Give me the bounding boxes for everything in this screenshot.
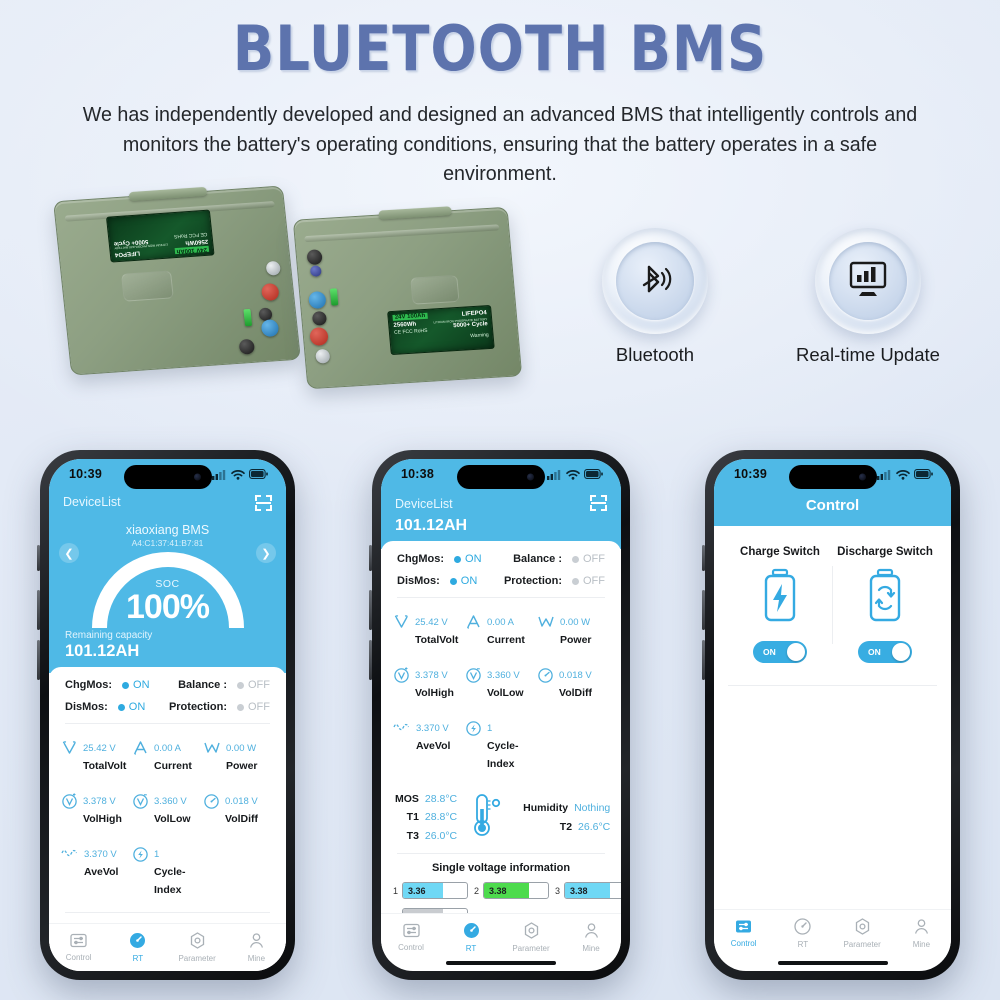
soc-value: 100% [49,590,286,626]
phone2-appbar-title[interactable]: DeviceList [395,497,453,511]
volt-diff-icon [537,667,554,688]
ave-vol-icon [61,846,79,865]
badge-realtime: Real-time Update [793,228,943,366]
label2-warning: Warning [435,332,489,342]
volt-low-icon [132,793,149,814]
volt-diff-icon [203,793,220,814]
signal-icon [547,469,562,480]
phone2-clock: 10:38 [401,467,434,481]
volt-icon [61,740,78,760]
metric-cycle-index: 1Cycle-Index [132,844,203,898]
product-photo-group: 24V 100Ah 2560Wh CE FCC RoHS LIFEPO4 LIT… [0,185,600,435]
phone3-notch [789,465,877,489]
charge-switch-toggle[interactable]: ON [753,641,807,663]
phone3-appbar: Control [714,489,951,526]
status-chgmos: ChgMos:ON [65,679,168,691]
person-icon [227,932,286,951]
battery-icon [914,469,933,479]
port2-silver [315,349,330,364]
port2-black [306,249,322,265]
port2-black2 [312,311,327,326]
port2-blue [308,291,326,309]
soc-gauge: SOC 100% [49,552,286,630]
phone1-device-hero: ❮ ❯ xiaoxiang BMS A4:C1:37:41:B7:81 SOC … [49,521,286,673]
tab-control[interactable]: Control [381,923,441,952]
phone2-home-indicator[interactable] [446,961,556,965]
wifi-icon [896,469,910,480]
battery-product-left: 24V 100Ah 2560Wh CE FCC RoHS LIFEPO4 LIT… [53,185,301,375]
discharge-switch-toggle[interactable]: ON [858,641,912,663]
status-dismos: DisMos:ON [397,575,501,587]
status-protection: Protection:OFF [501,575,605,587]
badge-realtime-label: Real-time Update [793,344,943,366]
signal-icon [212,469,227,480]
tab-parameter[interactable]: Parameter [168,932,227,963]
control-icon [381,923,441,940]
phone1-switch-status: ChgMos:ON Balance :OFF DisMos:ON Protect… [49,667,286,723]
metric-power: 0.00 WPower [203,738,274,774]
watt-icon [537,614,555,634]
metric-voldiff: 0.018 VVolDiff [203,791,274,827]
metric-avevol: 3.370 VAveVol [61,844,132,898]
phone3-appbar-title: Control [728,497,937,514]
discharge-switch-group: Discharge Switch ON [833,546,937,663]
phone3-clock: 10:39 [734,467,767,481]
metric-volhigh: 3.378 VVolHigh [61,791,132,827]
status-dismos: DisMos:ON [65,701,168,713]
battery-icon [584,469,603,479]
phone1-appbar: DeviceList [49,489,286,521]
thermometer-icon [457,792,515,843]
device-name: xiaoxiang BMS [49,523,286,537]
volt-high-icon [61,793,78,814]
person-icon [561,922,621,941]
charge-switch-label: Charge Switch [728,546,832,558]
phone2-volume-down-button[interactable] [369,640,372,680]
metric-volhigh: 3.378 VVolHigh [393,665,465,701]
tab-rt[interactable]: RT [441,922,501,953]
feature-badges: Bluetooth Real-time Update [585,228,985,393]
control-icon [714,919,773,936]
phone2-capacity: 101.12AH [395,517,467,535]
single-voltage-title: Single voltage information [381,854,621,882]
cell-battery-bar: 3.36 [402,882,468,899]
cycle-icon [465,720,482,741]
hex-gear-icon [501,922,561,941]
phone2-appbar: DeviceList 101.12AH [381,489,621,549]
status-balance: Balance :OFF [168,679,271,691]
bluetooth-icon [634,258,676,305]
port-blue [261,319,280,337]
metric-power: 0.00 WPower [537,612,609,648]
charge-switch-group: Charge Switch ON [728,546,832,663]
phone1-mute-button[interactable] [37,545,40,571]
cell-item: 13.36 [393,882,468,899]
gauge-icon [773,918,832,937]
metric-totalvolt: 25.42 VTotalVolt [393,612,465,648]
tab-parameter[interactable]: Parameter [833,918,892,949]
cycle-icon [132,846,149,867]
phone1-screen: 10:39 DeviceList ❮ ❯ xiaoxiang BMS A4:C1… [49,459,286,971]
person-icon [892,918,951,937]
wifi-icon [231,469,245,480]
control-icon [49,933,108,950]
remaining-capacity-label: Remaining capacity [65,630,270,641]
volt-low-icon [465,667,482,688]
gauge-icon [108,932,167,951]
tab-control[interactable]: Control [714,919,773,948]
phone1-volume-up-button[interactable] [37,590,40,630]
port-green [243,309,252,326]
port2-blue-dk [310,265,322,277]
phone2-tabbar: Control RT Parameter Mine [381,913,621,961]
watt-icon [203,740,221,760]
gauge-icon [441,922,501,941]
phone2-status-icons [547,469,603,480]
hex-gear-icon [833,918,892,937]
battery-bolt-icon [728,568,832,629]
page-subtitle: We has independently developed and desig… [68,100,932,189]
phone1-notch [124,465,212,489]
phone2-temps-left: MOS28.8°C T128.8°C T326.0°C [395,790,457,845]
metric-vollow: 3.360 VVolLow [465,665,537,701]
phone2-switch-status: ChgMos:ON Balance :OFF DisMos:ON Protect… [381,541,621,597]
scan-icon[interactable] [255,495,272,511]
tab-mine[interactable]: Mine [892,918,951,949]
phone2-volume-up-button[interactable] [369,590,372,630]
battery-product-right: 24V 100Ah 2560Wh CE FCC RoHS LIFEPO4 LIT… [293,207,522,389]
status-chgmos: ChgMos:ON [397,553,501,565]
phone-3: 10:39 Control Charge Switch O [705,450,960,980]
phone1-clock: 10:39 [69,467,102,481]
metric-current: 0.00 ACurrent [132,738,203,774]
hex-gear-icon [168,932,227,951]
ampere-icon [465,614,482,634]
remaining-capacity: Remaining capacity 101.12AH [49,630,286,661]
phone3-screen: 10:39 Control Charge Switch O [714,459,951,971]
tab-rt[interactable]: RT [773,918,832,949]
volt-high-icon [393,667,410,688]
metric-vollow: 3.360 VVolLow [132,791,203,827]
metric-totalvolt: 25.42 VTotalVolt [61,738,132,774]
battery-spec-label-2: 24V 100Ah 2560Wh CE FCC RoHS LIFEPO4 LIT… [387,305,495,355]
badge-bluetooth: Bluetooth [597,228,713,366]
tab-mine[interactable]: Mine [561,922,621,953]
battery-recycle-icon [833,568,937,629]
ampere-icon [132,740,149,760]
phone1-appbar-title[interactable]: DeviceList [63,495,121,509]
port2-red [309,327,329,346]
battery-icon [249,469,268,479]
phone1-tabbar: Control RT Parameter Mine [49,923,286,971]
discharge-switch-label: Discharge Switch [833,546,937,558]
phone1-volume-down-button[interactable] [37,640,40,680]
label-voltage: 24V 100Ah [174,246,209,254]
phone3-tabbar: Control RT Parameter Mine [714,909,951,957]
phone2-temps-right: HumidityNothing T226.6°C [515,799,610,836]
remaining-capacity-value: 101.12AH [65,642,270,661]
phone1-metrics: 25.42 VTotalVolt 0.00 ACurrent 0.00 WPow… [49,724,286,902]
phone3-status-icons [877,469,933,480]
metric-cycle-index: 1Cycle-Index [465,718,537,772]
cell-battery-bar: 3.38 [483,882,549,899]
port-silver [266,261,281,276]
tab-control[interactable]: Control [49,933,108,962]
phone2-notch [457,465,545,489]
cell-battery-bar: 3.38 [564,882,621,899]
metric-avevol: 3.370 VAveVol [393,718,465,772]
volt-icon [393,614,410,634]
phone-1: 10:39 DeviceList ❮ ❯ xiaoxiang BMS A4:C1… [40,450,295,980]
phone2-mute-button[interactable] [369,545,372,571]
phone3-mute-button[interactable] [702,545,705,571]
metric-current: 0.00 ACurrent [465,612,537,648]
phone2-card: ChgMos:ON Balance :OFF DisMos:ON Protect… [381,541,621,935]
device-mac: A4:C1:37:41:B7:81 [49,538,286,548]
ave-vol-icon [393,720,411,739]
hero-section: BLUETOOTH BMS We has independently devel… [0,0,1000,200]
port2-green [330,288,338,305]
phone3-volume-down-button[interactable] [702,640,705,680]
badge-bluetooth-label: Bluetooth [597,344,713,366]
cell-item: 23.38 [474,882,549,899]
tab-mine[interactable]: Mine [227,932,286,963]
port-red [261,283,280,301]
cell-item: 33.38 [555,882,621,899]
phone1-status-icons [212,469,268,480]
metric-voldiff: 0.018 VVolDiff [537,665,609,701]
label2-voltage: 24V 100Ah [393,313,428,321]
wifi-icon [566,469,580,480]
phone3-control-body: Charge Switch ON Discharge Switch [714,526,951,663]
phone2-metrics: 25.42 VTotalVolt 0.00 ACurrent 0.00 WPow… [381,598,621,776]
port-black-2 [239,339,256,355]
battery-spec-label: 24V 100Ah 2560Wh CE FCC RoHS LIFEPO4 LIT… [106,210,215,263]
signal-icon [877,469,892,480]
phone2-temperature-block: MOS28.8°C T128.8°C T326.0°C Humidi [381,776,621,853]
scan-icon[interactable] [590,495,607,511]
monitor-chart-icon [846,259,890,304]
tab-parameter[interactable]: Parameter [501,922,561,953]
phone-2: 10:38 DeviceList 101.12AH ChgMos:ON Bala… [372,450,630,980]
phone3-volume-up-button[interactable] [702,590,705,630]
tab-rt[interactable]: RT [108,932,167,963]
phone3-section-divider [728,685,937,686]
phone2-screen: 10:38 DeviceList 101.12AH ChgMos:ON Bala… [381,459,621,971]
status-balance: Balance :OFF [501,553,605,565]
phone3-home-indicator[interactable] [778,961,888,965]
page-title: BLUETOOTH BMS [60,16,940,81]
status-protection: Protection:OFF [168,701,271,713]
